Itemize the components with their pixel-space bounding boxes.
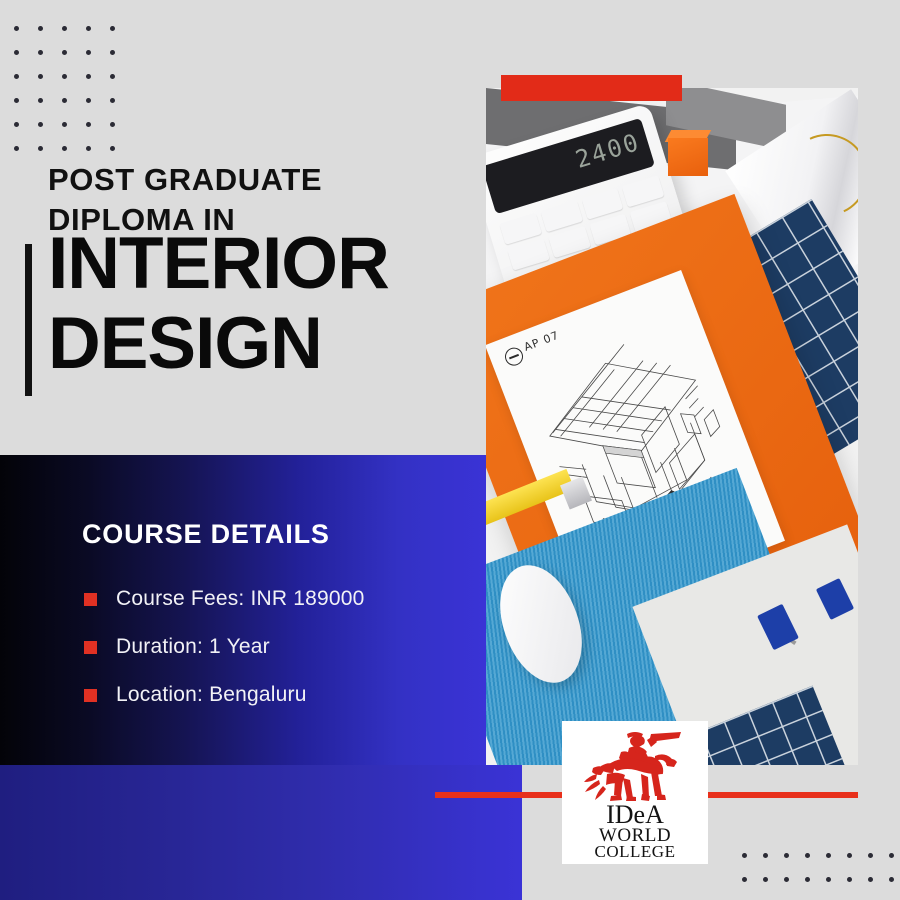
dot bbox=[889, 853, 894, 858]
dot bbox=[14, 146, 19, 151]
dot bbox=[805, 853, 810, 858]
dot bbox=[868, 853, 873, 858]
dot bbox=[14, 98, 19, 103]
dot bbox=[62, 50, 67, 55]
blue-gradient-panel-lower bbox=[0, 765, 522, 900]
interior-design-desk-photo: AP 07 bbox=[486, 88, 858, 765]
dot bbox=[62, 74, 67, 79]
institution-logo-card: IDeA WORLD COLLEGE bbox=[562, 721, 708, 864]
dot bbox=[86, 50, 91, 55]
dot bbox=[38, 26, 43, 31]
dot bbox=[110, 50, 115, 55]
photo-orange-cube bbox=[668, 138, 708, 176]
dot bbox=[110, 26, 115, 31]
dot-grid-bottom-right bbox=[742, 853, 900, 900]
square-bullet-icon bbox=[84, 641, 97, 654]
page-title-line-1: INTERIOR bbox=[48, 223, 389, 304]
list-item: Location: Bengaluru bbox=[84, 671, 365, 719]
dot bbox=[847, 877, 852, 882]
page-title: INTERIOR DESIGN bbox=[48, 228, 478, 381]
dot bbox=[38, 98, 43, 103]
title-accent-bar bbox=[25, 244, 32, 396]
dot-grid-top-left bbox=[14, 26, 134, 170]
dot bbox=[86, 98, 91, 103]
dot bbox=[14, 122, 19, 127]
dot bbox=[110, 146, 115, 151]
dot bbox=[742, 853, 747, 858]
blueprint-stamp-icon bbox=[502, 345, 525, 368]
dot bbox=[110, 122, 115, 127]
red-accent-bar bbox=[501, 75, 682, 101]
square-bullet-icon bbox=[84, 593, 97, 606]
blueprint-caption: AP 07 bbox=[522, 329, 561, 354]
dot bbox=[868, 877, 873, 882]
dot bbox=[110, 98, 115, 103]
dot bbox=[826, 853, 831, 858]
dot bbox=[784, 877, 789, 882]
dot bbox=[14, 50, 19, 55]
square-bullet-icon bbox=[84, 689, 97, 702]
dot bbox=[14, 26, 19, 31]
dot bbox=[763, 853, 768, 858]
course-details-list: Course Fees: INR 189000 Duration: 1 Year… bbox=[84, 575, 365, 719]
dot bbox=[62, 146, 67, 151]
dot bbox=[86, 26, 91, 31]
knight-on-horseback-icon bbox=[579, 730, 691, 802]
dot bbox=[847, 853, 852, 858]
dot bbox=[86, 122, 91, 127]
course-details-heading: COURSE DETAILS bbox=[82, 519, 330, 550]
dot bbox=[86, 74, 91, 79]
dot bbox=[62, 26, 67, 31]
dot bbox=[38, 50, 43, 55]
dot bbox=[62, 98, 67, 103]
dot bbox=[86, 146, 91, 151]
logo-word-3: COLLEGE bbox=[595, 844, 676, 860]
dot bbox=[38, 122, 43, 127]
dot bbox=[784, 853, 789, 858]
logo-word-1: IDeA bbox=[595, 803, 676, 827]
list-item: Course Fees: INR 189000 bbox=[84, 575, 365, 623]
eyebrow-line-1: POST GRADUATE bbox=[48, 160, 468, 200]
list-item-label: Duration: 1 Year bbox=[116, 635, 270, 659]
list-item-label: Course Fees: INR 189000 bbox=[116, 587, 365, 611]
dot bbox=[805, 877, 810, 882]
list-item-label: Location: Bengaluru bbox=[116, 683, 307, 707]
dot bbox=[763, 877, 768, 882]
page-title-line-2: DESIGN bbox=[48, 308, 478, 380]
dot bbox=[14, 74, 19, 79]
dot bbox=[826, 877, 831, 882]
dot bbox=[38, 146, 43, 151]
list-item: Duration: 1 Year bbox=[84, 623, 365, 671]
dot bbox=[62, 122, 67, 127]
dot bbox=[889, 877, 894, 882]
dot bbox=[110, 74, 115, 79]
dot bbox=[742, 877, 747, 882]
poster-canvas: AP 07 bbox=[0, 0, 900, 900]
institution-name: IDeA WORLD COLLEGE bbox=[595, 803, 676, 860]
dot bbox=[38, 74, 43, 79]
